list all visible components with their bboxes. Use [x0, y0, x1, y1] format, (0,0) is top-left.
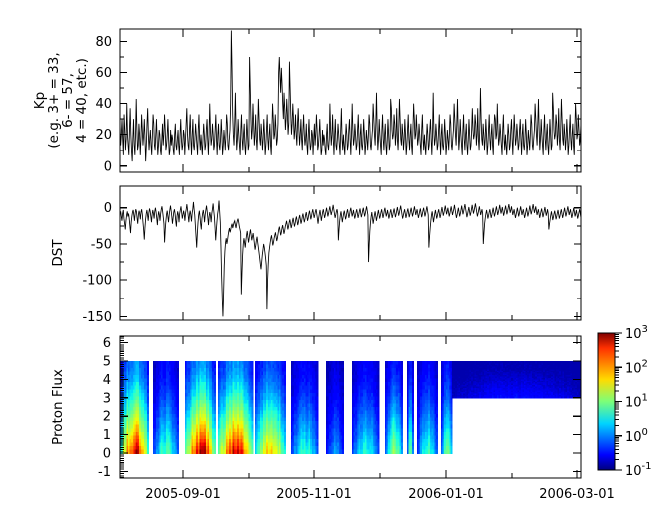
spectrogram-cell [378, 450, 380, 454]
y-tick-label: 40 [95, 97, 112, 112]
kp-axis-label-line: 4 = 40, etc.) [74, 58, 90, 143]
spectrogram-cell [284, 450, 286, 454]
spectrogram-cell [451, 450, 453, 454]
dst-axis-label: DST [50, 239, 66, 267]
y-tick-label: -100 [82, 274, 112, 289]
y-tick-label: 80 [95, 35, 112, 50]
spectrogram-cell [252, 450, 254, 454]
spectrogram-cell [412, 450, 414, 454]
spectrogram-cell [177, 450, 179, 454]
y-tick-label: 0 [104, 159, 112, 174]
figure-root: 020406080 Kp(e.g. 3+ = 33,6- = 57,4 = 40… [0, 0, 665, 523]
spectrogram-cell [147, 450, 149, 454]
spectrogram-cell [214, 450, 216, 454]
y-tick-label: 0 [104, 201, 112, 216]
spectrogram-cell [436, 450, 438, 454]
y-tick-label: 20 [95, 128, 112, 143]
spectrogram-cell [401, 450, 403, 454]
y-tick-label: 60 [95, 66, 112, 81]
multi-panel-plot: 020406080 Kp(e.g. 3+ = 33,6- = 57,4 = 40… [0, 0, 665, 523]
y-tick-label: -50 [91, 237, 112, 252]
spectrogram-cell [342, 450, 344, 454]
y-tick-label: -150 [82, 310, 112, 325]
spectrogram-cell [317, 450, 319, 454]
